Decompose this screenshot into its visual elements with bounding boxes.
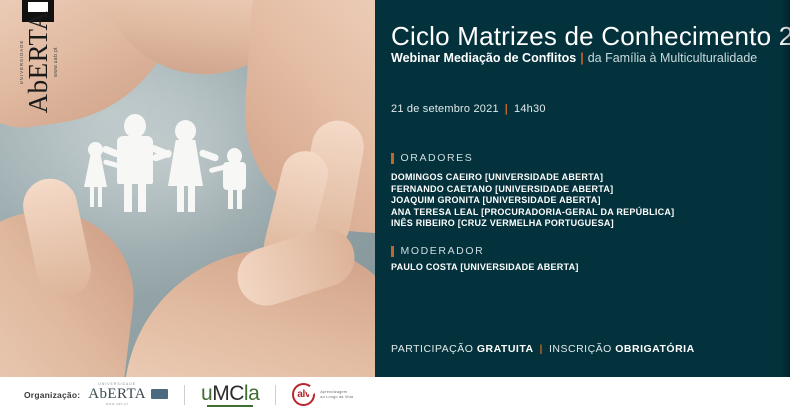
datetime-separator: |: [505, 103, 508, 115]
event-time: 14h30: [514, 103, 546, 115]
alv-logo: alv Aprendizagem ao Longo da Vida: [292, 383, 353, 406]
umcla-prefix: u: [201, 382, 212, 405]
umcla-suffix: la: [244, 382, 259, 405]
father-figure-head: [124, 114, 146, 138]
list-item: JOAQUIM GRONITA [UNIVERSIDADE ABERTA]: [391, 195, 674, 207]
girl-figure-leg-left: [90, 185, 94, 207]
boy-figure-leg-right: [237, 188, 242, 209]
uab-footer-name: AbERTA: [88, 387, 146, 402]
hands-family-photo: UNIVERSIDADE AbERTA www.uab.pt: [0, 0, 375, 377]
participation-info: PARTICIPAÇÃO GRATUITA|INSCRIÇÃO OBRIGATÓ…: [391, 343, 695, 355]
girl-figure-leg-right: [98, 185, 102, 207]
participation-label: PARTICIPAÇÃO: [391, 343, 473, 355]
organization-label: Organização:: [24, 390, 80, 400]
moderator-list: PAULO COSTA [UNIVERSIDADE ABERTA]: [391, 262, 579, 274]
registration-value: OBRIGATÓRIA: [615, 343, 694, 355]
uab-corner-logo-text: UNIVERSIDADE AbERTA www.uab.pt: [11, 7, 67, 117]
subtitle-separator: |: [580, 51, 584, 65]
alv-line-2: ao Longo da Vida: [320, 395, 353, 400]
footer-divider: [184, 385, 185, 405]
subtitle-bold-text: Webinar Mediação de Conflitos: [391, 51, 576, 65]
webinar-poster: UNIVERSIDADE AbERTA www.uab.pt Ciclo Mat…: [0, 0, 790, 412]
uab-footer-logo: UNIVERSIDADE AbERTA www.uab.pt: [88, 383, 168, 406]
uab-footer-url: www.uab.pt: [106, 403, 128, 406]
event-datetime: 21 de setembro 2021|14h30: [391, 103, 546, 115]
father-figure-body: [117, 136, 153, 184]
umcla-underline: [207, 405, 253, 407]
mother-figure-leg-left: [177, 184, 184, 212]
mother-figure-head: [175, 120, 196, 142]
umcla-mid-1: M: [212, 382, 229, 405]
list-item: FERNANDO CAETANO [UNIVERSIDADE ABERTA]: [391, 184, 674, 196]
speakers-list: DOMINGOS CAEIRO [UNIVERSIDADE ABERTA] FE…: [391, 172, 674, 230]
page-subtitle: Webinar Mediação de Conflitos|da Família…: [391, 51, 757, 65]
speakers-heading: ORADORES: [391, 152, 473, 164]
list-item: INÊS RIBEIRO [CRUZ VERMELHA PORTUGUESA]: [391, 218, 674, 230]
boy-figure-leg-left: [228, 188, 233, 209]
list-item: PAULO COSTA [UNIVERSIDADE ABERTA]: [391, 262, 579, 274]
uab-corner-logo: UNIVERSIDADE AbERTA www.uab.pt: [6, 0, 62, 100]
page-title: Ciclo Matrizes de Conhecimento 2021: [391, 22, 790, 51]
umcla-mid-2: C: [229, 382, 244, 405]
speakers-heading-label: ORADORES: [401, 152, 474, 164]
participation-value: GRATUITA: [477, 343, 534, 355]
footer-bar: Organização: UNIVERSIDADE AbERTA www.uab…: [0, 377, 790, 412]
list-item: ANA TERESA LEAL [PROCURADORIA-GERAL DA R…: [391, 207, 674, 219]
uab-footer-logo-text: UNIVERSIDADE AbERTA www.uab.pt: [88, 383, 146, 406]
paper-family-cutout: [76, 108, 256, 212]
mother-figure-leg-right: [188, 184, 195, 212]
accent-bar-icon: [391, 153, 394, 164]
info-panel: Ciclo Matrizes de Conhecimento 2021 Webi…: [375, 0, 790, 377]
umcla-logo-text: uMCla: [201, 383, 259, 404]
father-figure-leg-left: [124, 182, 132, 212]
mother-figure-arm-right: [198, 149, 219, 162]
umcla-logo: uMCla: [201, 383, 259, 407]
mother-figure-body: [168, 140, 203, 186]
father-figure-leg-right: [138, 182, 146, 212]
event-date: 21 de setembro 2021: [391, 103, 499, 115]
moderator-heading-label: MODERADOR: [401, 245, 485, 257]
footer-divider: [275, 385, 276, 405]
uab-flag-icon: [151, 389, 168, 399]
uab-corner-url: www.uab.pt: [53, 47, 59, 77]
girl-figure-head: [88, 142, 103, 157]
list-item: DOMINGOS CAEIRO [UNIVERSIDADE ABERTA]: [391, 172, 674, 184]
moderator-heading: MODERADOR: [391, 245, 484, 257]
alv-circle-icon: alv: [292, 383, 315, 406]
registration-label: INSCRIÇÃO: [549, 343, 612, 355]
uab-corner-name: AbERTA: [25, 11, 52, 114]
subtitle-light-text: da Família à Multiculturalidade: [588, 51, 758, 65]
participation-separator: |: [540, 343, 543, 355]
accent-bar-icon: [391, 246, 394, 257]
alv-logo-text: Aprendizagem ao Longo da Vida: [320, 390, 353, 399]
